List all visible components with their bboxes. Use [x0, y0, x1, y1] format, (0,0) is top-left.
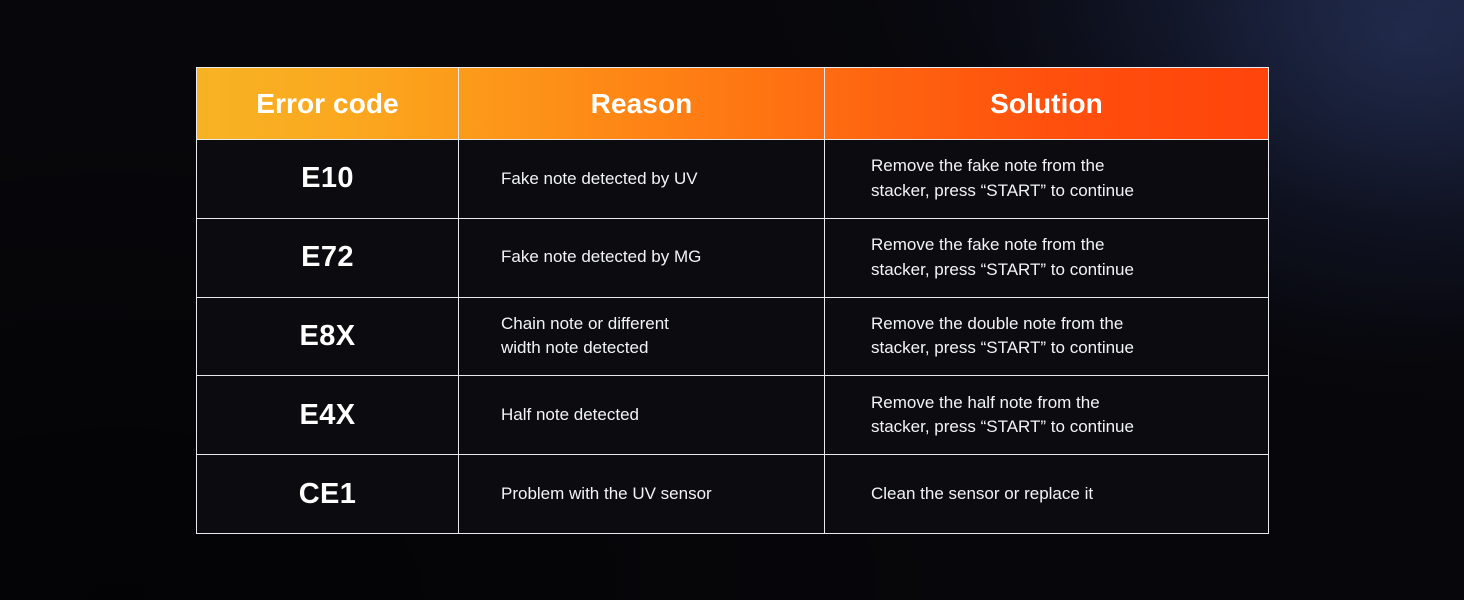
reason-text: Half note detected: [501, 403, 798, 428]
table-row: E4X Half note detected Remove the half n…: [197, 376, 1269, 455]
solution-text: Remove the fake note from the stacker, p…: [871, 233, 1242, 282]
table-header: Error code Reason Solution: [197, 68, 1269, 140]
error-code-table: Error code Reason Solution E10 Fake note…: [196, 67, 1269, 534]
column-header-reason: Reason: [459, 68, 825, 140]
reason-text: Problem with the UV sensor: [501, 482, 798, 507]
cell-solution: Clean the sensor or replace it: [825, 455, 1269, 534]
cell-error-code: E8X: [197, 297, 459, 376]
table-row: E8X Chain note or different width note d…: [197, 297, 1269, 376]
table-body: E10 Fake note detected by UV Remove the …: [197, 140, 1269, 534]
cell-error-code: E72: [197, 218, 459, 297]
cell-solution: Remove the fake note from the stacker, p…: [825, 218, 1269, 297]
column-header-solution: Solution: [825, 68, 1269, 140]
solution-text: Remove the half note from the stacker, p…: [871, 391, 1242, 440]
solution-text: Clean the sensor or replace it: [871, 482, 1242, 507]
reason-text: Chain note or different width note detec…: [501, 312, 798, 361]
error-code-text: E72: [205, 241, 450, 274]
cell-error-code: E10: [197, 140, 459, 219]
cell-error-code: CE1: [197, 455, 459, 534]
cell-error-code: E4X: [197, 376, 459, 455]
table-row: CE1 Problem with the UV sensor Clean the…: [197, 455, 1269, 534]
solution-text: Remove the fake note from the stacker, p…: [871, 154, 1242, 203]
cell-solution: Remove the half note from the stacker, p…: [825, 376, 1269, 455]
cell-solution: Remove the double note from the stacker,…: [825, 297, 1269, 376]
reason-text: Fake note detected by UV: [501, 167, 798, 192]
cell-solution: Remove the fake note from the stacker, p…: [825, 140, 1269, 219]
error-code-text: CE1: [205, 478, 450, 511]
table-row: E10 Fake note detected by UV Remove the …: [197, 140, 1269, 219]
cell-reason: Half note detected: [459, 376, 825, 455]
table-row: E72 Fake note detected by MG Remove the …: [197, 218, 1269, 297]
table-header-row: Error code Reason Solution: [197, 68, 1269, 140]
error-code-text: E4X: [205, 399, 450, 432]
cell-reason: Problem with the UV sensor: [459, 455, 825, 534]
solution-text: Remove the double note from the stacker,…: [871, 312, 1242, 361]
cell-reason: Fake note detected by MG: [459, 218, 825, 297]
error-code-text: E8X: [205, 320, 450, 353]
error-code-text: E10: [205, 162, 450, 195]
reason-text: Fake note detected by MG: [501, 245, 798, 270]
column-header-error-code: Error code: [197, 68, 459, 140]
cell-reason: Fake note detected by UV: [459, 140, 825, 219]
cell-reason: Chain note or different width note detec…: [459, 297, 825, 376]
